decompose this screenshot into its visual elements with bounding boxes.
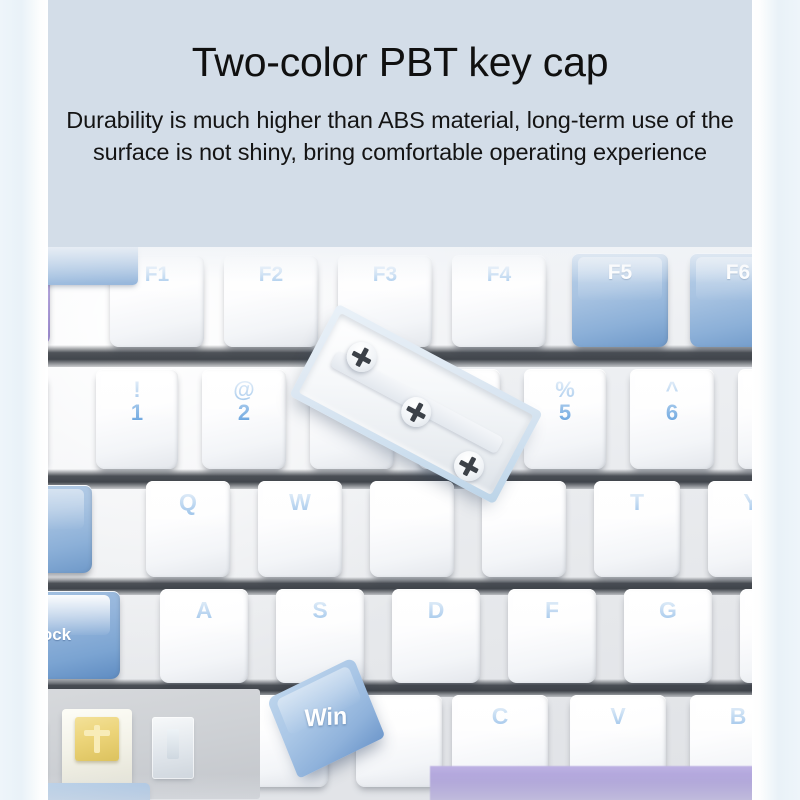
key-5-label: % 5 — [555, 369, 575, 425]
key-caps-lock-label: ps Lock — [7, 626, 71, 644]
key-e[interactable] — [370, 481, 454, 577]
key-d-label: D — [428, 589, 445, 622]
key-b-label: B — [730, 695, 747, 728]
key-f6[interactable]: F6 — [690, 253, 786, 347]
subtitle-line-2: surface is not shiny, bring comfortable … — [14, 136, 786, 168]
peek-keycap-blue-left — [20, 783, 150, 800]
key-6[interactable]: ^ 6 — [630, 369, 714, 469]
key-2-label: @ 2 — [233, 369, 254, 425]
key-y[interactable]: Y — [708, 481, 794, 577]
key-f6-label: F6 — [726, 253, 751, 284]
key-win-label: Win — [305, 702, 348, 733]
subtitle-line-1: Durability is much higher than ABS mater… — [66, 107, 734, 133]
key-7[interactable] — [738, 369, 800, 469]
key-6-label: ^ 6 — [666, 369, 679, 425]
key-f5[interactable]: F5 — [572, 253, 668, 347]
cross-stem-icon-3 — [449, 446, 490, 487]
key-c-label: C — [492, 695, 509, 728]
header-band: Two-color PBT key cap Durability is much… — [0, 0, 800, 247]
peek-keycap-blue-topleft — [12, 247, 138, 285]
page-title: Two-color PBT key cap — [0, 38, 800, 86]
key-f4-label: F4 — [487, 255, 512, 286]
key-w-label: W — [289, 481, 311, 514]
key-y-label: Y — [743, 481, 758, 514]
stabilizer-clear-right — [152, 717, 194, 779]
switch-stem-yellow — [75, 717, 119, 761]
product-feature-banner: Two-color PBT key cap Durability is much… — [0, 0, 800, 800]
key-f[interactable]: F — [508, 589, 596, 683]
key-h[interactable] — [740, 589, 800, 683]
key-tab[interactable]: Tab — [0, 485, 92, 573]
key-f2[interactable]: F2 — [224, 255, 318, 347]
keyboard-deck-edge — [430, 766, 800, 800]
key-f-label: F — [545, 589, 559, 622]
key-g-label: G — [659, 589, 677, 622]
key-v-label: V — [610, 695, 625, 728]
key-1-label: ! 1 — [131, 369, 143, 425]
switch-housing-yellow — [62, 709, 132, 787]
key-2[interactable]: @ 2 — [202, 369, 286, 469]
key-t[interactable]: T — [594, 481, 680, 577]
key-q-label: Q — [179, 481, 197, 514]
stabilizer-clear-left — [6, 719, 48, 781]
key-f2-label: F2 — [259, 255, 284, 286]
keyboard-photo: sc F1 F2 F3 F4 F5 F6 ! 1 @ 2 $ — [0, 247, 800, 800]
key-f1-label: F1 — [145, 255, 170, 286]
key-backtick[interactable] — [0, 373, 48, 469]
key-q[interactable]: Q — [146, 481, 230, 577]
key-w[interactable]: W — [258, 481, 342, 577]
key-caps-lock[interactable]: ps Lock — [0, 591, 120, 679]
key-f4[interactable]: F4 — [452, 255, 546, 347]
key-d[interactable]: D — [392, 589, 480, 683]
key-1[interactable]: ! 1 — [96, 369, 178, 469]
key-g[interactable]: G — [624, 589, 712, 683]
key-a-label: A — [196, 589, 213, 622]
key-t-label: T — [630, 481, 644, 514]
key-a[interactable]: A — [160, 589, 248, 683]
exposed-switch-area — [0, 695, 250, 795]
key-s-label: S — [312, 589, 327, 622]
key-tab-label: Tab — [19, 506, 37, 535]
page-subtitle: Durability is much higher than ABS mater… — [14, 104, 786, 168]
key-f5-label: F5 — [608, 253, 633, 284]
key-f3-label: F3 — [373, 255, 398, 286]
